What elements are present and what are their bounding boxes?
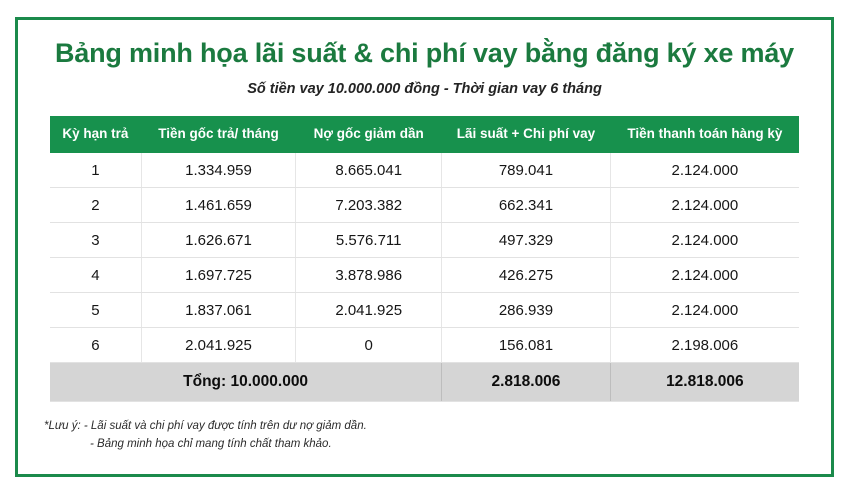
table-row: 1 1.334.959 8.665.041 789.041 2.124.000 xyxy=(50,153,799,188)
cell-tien-thanh-toan: 2.124.000 xyxy=(610,153,799,188)
footnotes: *Lưu ý: - Lãi suất và chi phí vay được t… xyxy=(18,402,831,454)
cell-no-goc-giam-dan: 5.576.711 xyxy=(296,223,442,258)
footnote-line-2: - Bảng minh họa chỉ mang tính chất tham … xyxy=(44,436,831,454)
table-header: Kỳ hạn trả Tiền gốc trả/ tháng Nợ gốc gi… xyxy=(50,116,799,153)
rate-table-container: Kỳ hạn trả Tiền gốc trả/ tháng Nợ gốc gi… xyxy=(18,98,831,402)
cell-tien-goc-thang: 2.041.925 xyxy=(141,328,295,363)
table-row: 6 2.041.925 0 156.081 2.198.006 xyxy=(50,328,799,363)
column-header-no-goc-giam-dan: Nợ gốc giảm dần xyxy=(296,116,442,153)
cell-ky-han: 4 xyxy=(50,258,141,293)
cell-ky-han: 3 xyxy=(50,223,141,258)
column-header-ky-han: Kỳ hạn trả xyxy=(50,116,141,153)
cell-no-goc-giam-dan: 7.203.382 xyxy=(296,188,442,223)
cell-tien-thanh-toan: 2.198.006 xyxy=(610,328,799,363)
table-body: 1 1.334.959 8.665.041 789.041 2.124.000 … xyxy=(50,153,799,402)
cell-tien-goc-thang: 1.697.725 xyxy=(141,258,295,293)
cell-tien-thanh-toan: 2.124.000 xyxy=(610,293,799,328)
cell-ky-han: 5 xyxy=(50,293,141,328)
cell-tien-thanh-toan: 2.124.000 xyxy=(610,188,799,223)
table-total-row: Tổng: 10.000.000 2.818.006 12.818.006 xyxy=(50,363,799,402)
cell-lai-suat-chi-phi: 286.939 xyxy=(442,293,611,328)
cell-tien-goc-thang: 1.334.959 xyxy=(141,153,295,188)
cell-lai-suat-chi-phi: 662.341 xyxy=(442,188,611,223)
column-header-lai-suat-chi-phi: Lãi suất + Chi phí vay xyxy=(442,116,611,153)
table-row: 4 1.697.725 3.878.986 426.275 2.124.000 xyxy=(50,258,799,293)
poster-content: Bảng minh họa lãi suất & chi phí vay bằn… xyxy=(18,20,831,474)
footnote-line-1: *Lưu ý: - Lãi suất và chi phí vay được t… xyxy=(44,418,831,436)
table-row: 3 1.626.671 5.576.711 497.329 2.124.000 xyxy=(50,223,799,258)
cell-lai-suat-chi-phi: 156.081 xyxy=(442,328,611,363)
cell-tien-goc-thang: 1.461.659 xyxy=(141,188,295,223)
cell-tien-thanh-toan: 2.124.000 xyxy=(610,223,799,258)
cell-ky-han: 2 xyxy=(50,188,141,223)
total-lai-suat-chi-phi: 2.818.006 xyxy=(442,363,611,402)
table-row: 5 1.837.061 2.041.925 286.939 2.124.000 xyxy=(50,293,799,328)
cell-tien-goc-thang: 1.837.061 xyxy=(141,293,295,328)
cell-no-goc-giam-dan: 0 xyxy=(296,328,442,363)
cell-lai-suat-chi-phi: 789.041 xyxy=(442,153,611,188)
column-header-tien-goc-thang: Tiền gốc trả/ tháng xyxy=(141,116,295,153)
cell-ky-han: 1 xyxy=(50,153,141,188)
cell-no-goc-giam-dan: 3.878.986 xyxy=(296,258,442,293)
total-tien-thanh-toan: 12.818.006 xyxy=(610,363,799,402)
amortization-table: Kỳ hạn trả Tiền gốc trả/ tháng Nợ gốc gi… xyxy=(50,116,799,402)
illustration-poster: Bảng minh họa lãi suất & chi phí vay bằn… xyxy=(15,17,834,477)
cell-tien-thanh-toan: 2.124.000 xyxy=(610,258,799,293)
loan-summary-subtitle: Số tiền vay 10.000.000 đồng - Thời gian … xyxy=(18,69,831,98)
table-header-row: Kỳ hạn trả Tiền gốc trả/ tháng Nợ gốc gi… xyxy=(50,116,799,153)
table-row: 2 1.461.659 7.203.382 662.341 2.124.000 xyxy=(50,188,799,223)
cell-no-goc-giam-dan: 2.041.925 xyxy=(296,293,442,328)
page-title: Bảng minh họa lãi suất & chi phí vay bằn… xyxy=(18,20,831,69)
cell-tien-goc-thang: 1.626.671 xyxy=(141,223,295,258)
cell-lai-suat-chi-phi: 426.275 xyxy=(442,258,611,293)
cell-ky-han: 6 xyxy=(50,328,141,363)
column-header-tien-thanh-toan: Tiền thanh toán hàng kỳ xyxy=(610,116,799,153)
cell-no-goc-giam-dan: 8.665.041 xyxy=(296,153,442,188)
total-label: Tổng: 10.000.000 xyxy=(50,363,442,402)
cell-lai-suat-chi-phi: 497.329 xyxy=(442,223,611,258)
